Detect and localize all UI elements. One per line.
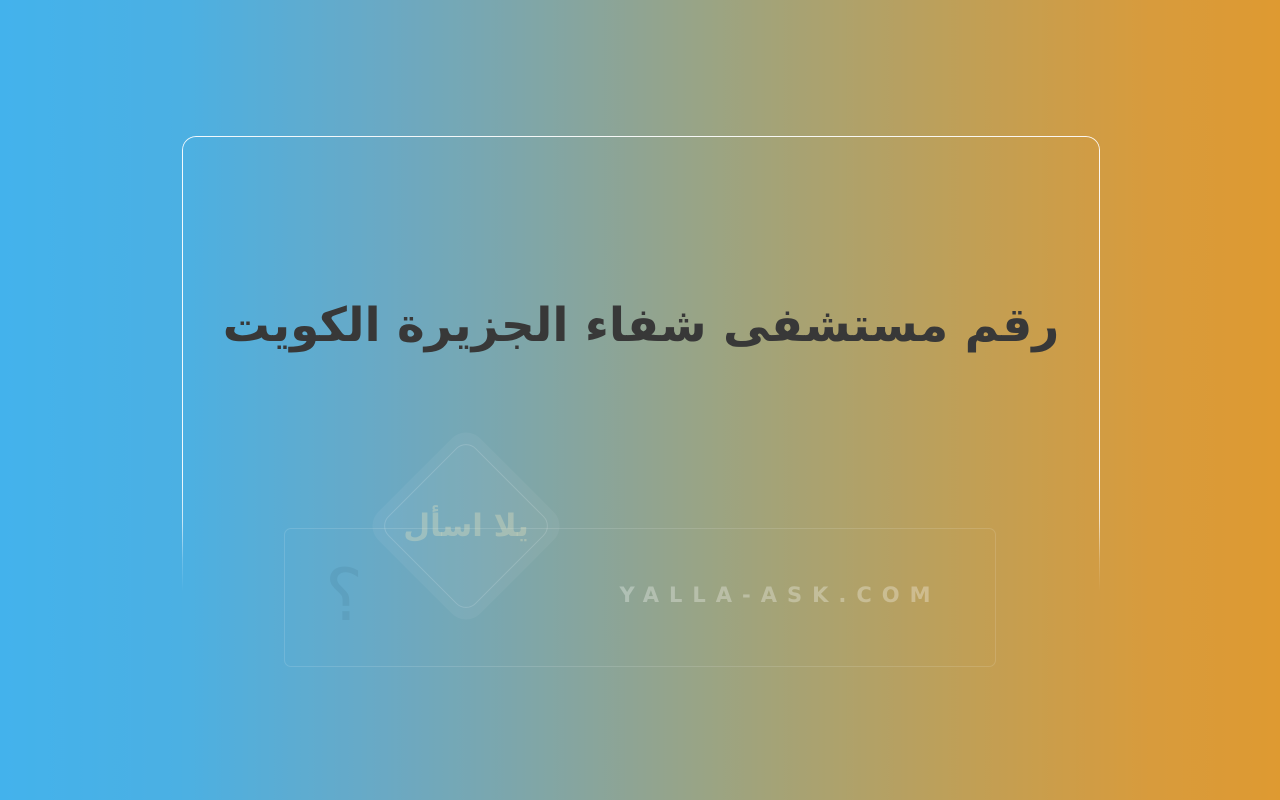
question-mark-icon: ؟: [312, 550, 376, 640]
page-title: رقم مستشفى شفاء الجزيرة الكويت: [223, 295, 1060, 357]
cover-canvas: رقم مستشفى شفاء الجزيرة الكويت يلا اسأل …: [0, 0, 1280, 800]
title-container: رقم مستشفى شفاء الجزيرة الكويت: [182, 136, 1100, 516]
watermark-box: [284, 528, 996, 667]
brand-domain-wordmark: YALLA-ASK.COM: [560, 575, 990, 615]
